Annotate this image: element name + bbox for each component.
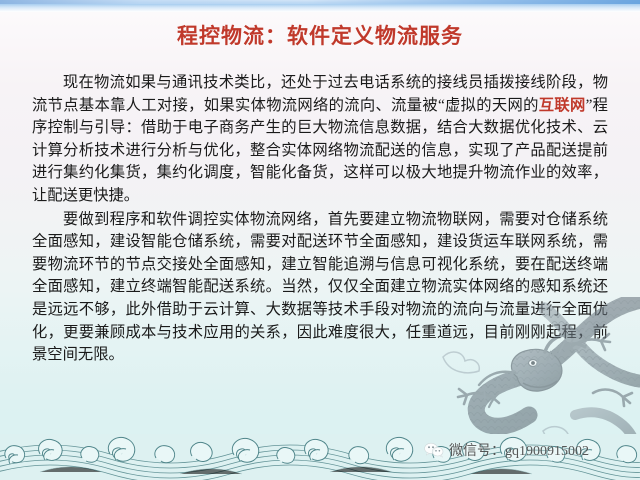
paragraph-2-text: 要做到程序和软件调控实体物流网络，首先要建立物流物联网，需要对仓储系统全面感知，… xyxy=(32,211,608,364)
top-accent-line xyxy=(0,0,640,4)
watermark: 微信号：gq1900915002 xyxy=(424,440,589,460)
paragraph-1: 现在物流如果与通讯技术类比，还处于过去电话系统的接线员插拨接线阶段，物流节点基本… xyxy=(32,72,608,208)
paragraph-2: 要做到程序和软件调控实体物流网络，首先要建立物流物联网，需要对仓储系统全面感知，… xyxy=(32,209,608,367)
slide-body-text: 现在物流如果与通讯技术类比，还处于过去电话系统的接线员插拨接线阶段，物流节点基本… xyxy=(32,72,608,367)
presentation-slide: 程控物流：软件定义物流服务 现在物流如果与通讯技术类比，还处于过去电话系统的接线… xyxy=(0,0,640,480)
wechat-icon xyxy=(424,442,444,458)
paragraph-1-text-before: 现在物流如果与通讯技术类比，还处于过去电话系统的接线员插拨接线阶段，物流节点基本… xyxy=(32,74,608,114)
watermark-text: 微信号：gq1900915002 xyxy=(449,440,589,460)
paragraph-1-highlight: 互联网 xyxy=(539,97,586,114)
page-title: 程控物流：软件定义物流服务 xyxy=(0,20,640,50)
top-decorative-band xyxy=(0,0,640,12)
